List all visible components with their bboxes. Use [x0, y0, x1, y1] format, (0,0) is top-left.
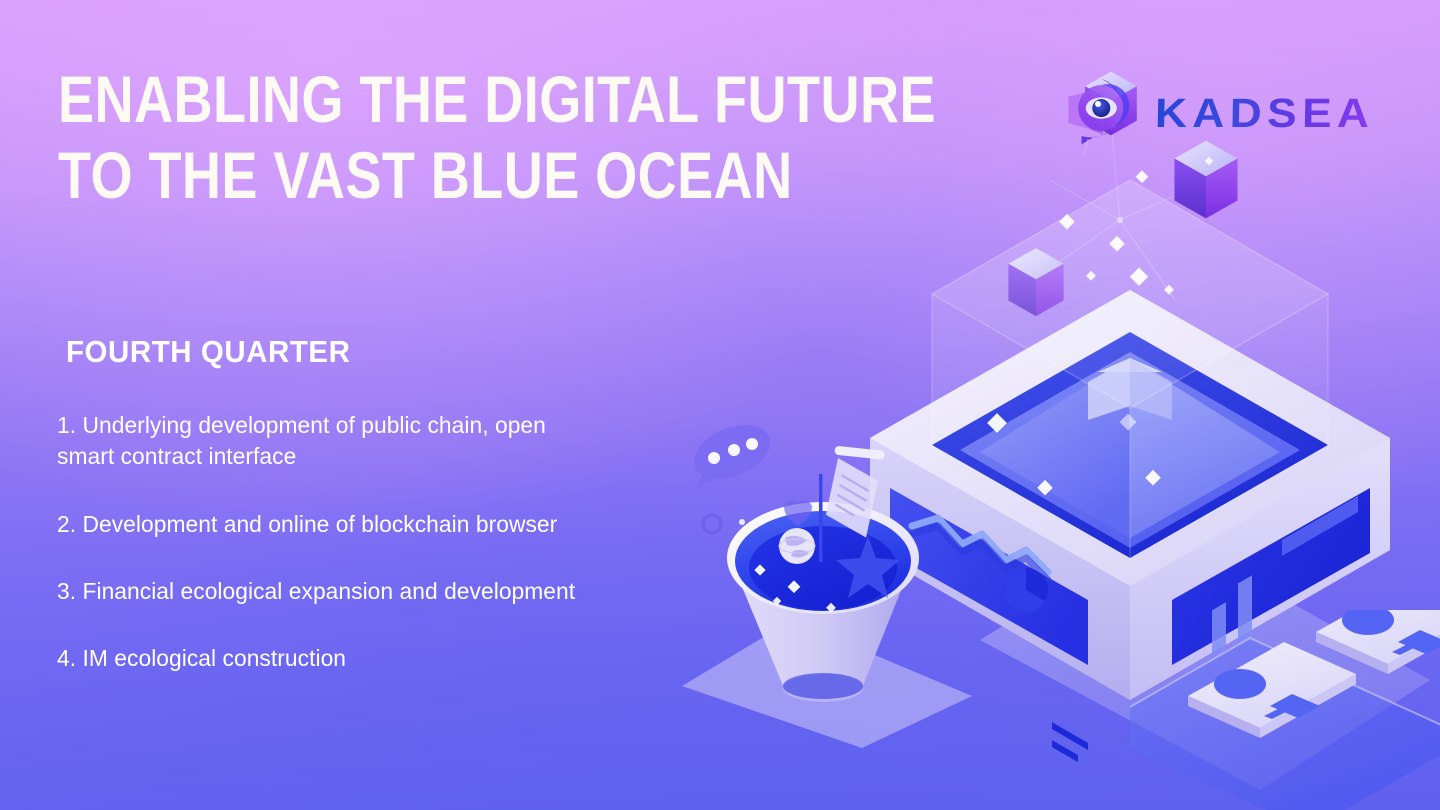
- profile-cards-group: [1130, 610, 1440, 810]
- list-item: 1. Underlying development of public chai…: [57, 410, 697, 473]
- brand-logo[interactable]: KADSEA: [1057, 72, 1358, 154]
- slide-canvas: ENABLING THE DIGITAL FUTURE TO THE VAST …: [0, 0, 1440, 810]
- roadmap-list: 1. Underlying development of public chai…: [57, 410, 717, 674]
- kadsea-eye-swirl-icon: [1057, 72, 1139, 154]
- list-item: 4. IM ecological construction: [57, 643, 697, 674]
- list-item: 2. Development and online of blockchain …: [57, 509, 697, 540]
- page-title: ENABLING THE DIGITAL FUTURE TO THE VAST …: [58, 68, 780, 206]
- headline-line-2: TO THE VAST BLUE OCEAN: [58, 144, 780, 207]
- list-item: 3. Financial ecological expansion and de…: [57, 576, 697, 607]
- brand-wordmark: KADSEA: [1154, 90, 1374, 137]
- pyramid-platform-group: [830, 120, 1440, 810]
- section-title: FOURTH QUARTER: [66, 334, 350, 370]
- headline-line-1: ENABLING THE DIGITAL FUTURE: [58, 68, 780, 131]
- data-funnel-group: [672, 418, 982, 748]
